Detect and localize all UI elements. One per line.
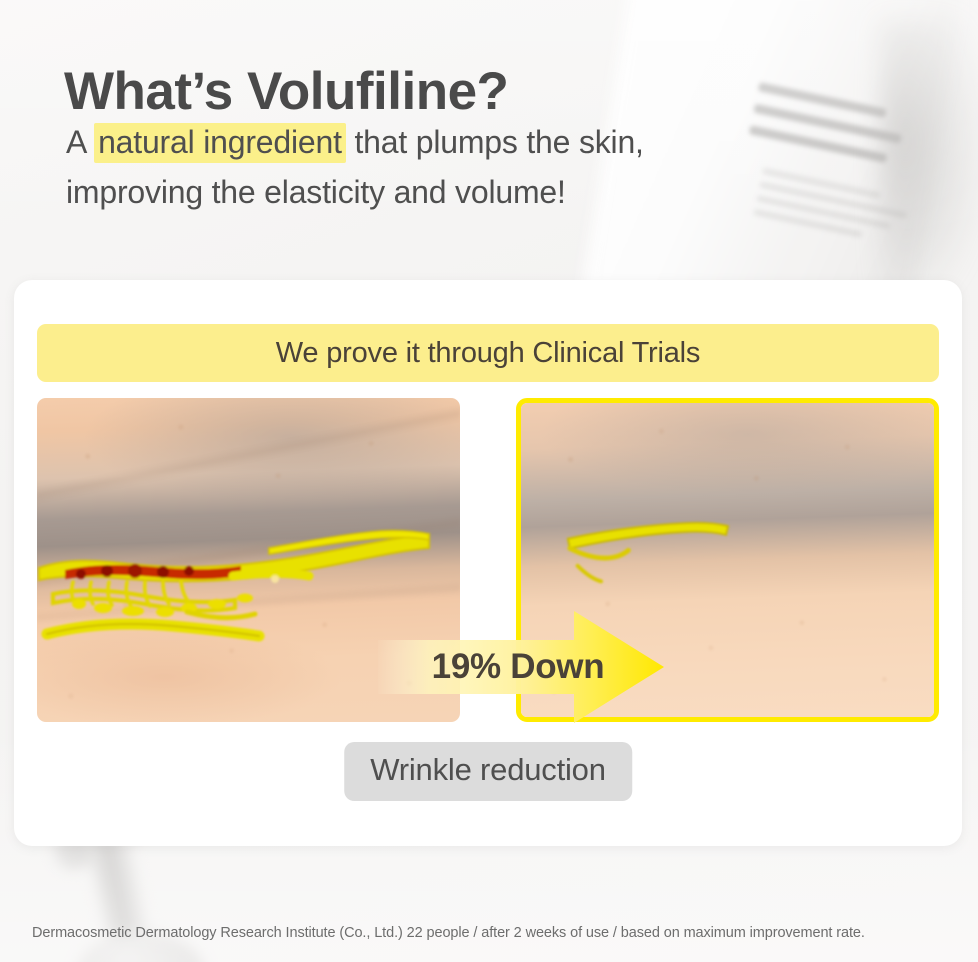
page-title: What’s Volufiline? xyxy=(64,62,508,121)
trial-banner-label: We prove it through Clinical Trials xyxy=(276,337,700,370)
metric-pill: Wrinkle reduction xyxy=(344,742,632,801)
subtitle-line-2: improving the elasticity and volume! xyxy=(66,174,566,210)
promo-page: What’s Volufiline? A natural ingredient … xyxy=(0,0,978,962)
before-after-comparison: 19% Down xyxy=(37,398,939,722)
clinical-trial-card: We prove it through Clinical Trials xyxy=(14,280,962,846)
before-photo xyxy=(37,398,460,722)
subtitle-highlight: natural ingredient xyxy=(94,123,346,163)
trial-banner: We prove it through Clinical Trials xyxy=(37,324,939,382)
metric-pill-label: Wrinkle reduction xyxy=(370,752,606,787)
wrinkle-analysis-overlay-after xyxy=(521,403,934,717)
after-photo xyxy=(516,398,939,722)
page-subtitle: A natural ingredient that plumps the ski… xyxy=(66,118,644,217)
subtitle-part-1: A xyxy=(66,124,94,160)
footnote: Dermacosmetic Dermatology Research Insti… xyxy=(32,925,865,941)
wrinkle-analysis-overlay-before xyxy=(37,398,460,722)
subtitle-part-2: that plumps the skin, xyxy=(346,124,644,160)
